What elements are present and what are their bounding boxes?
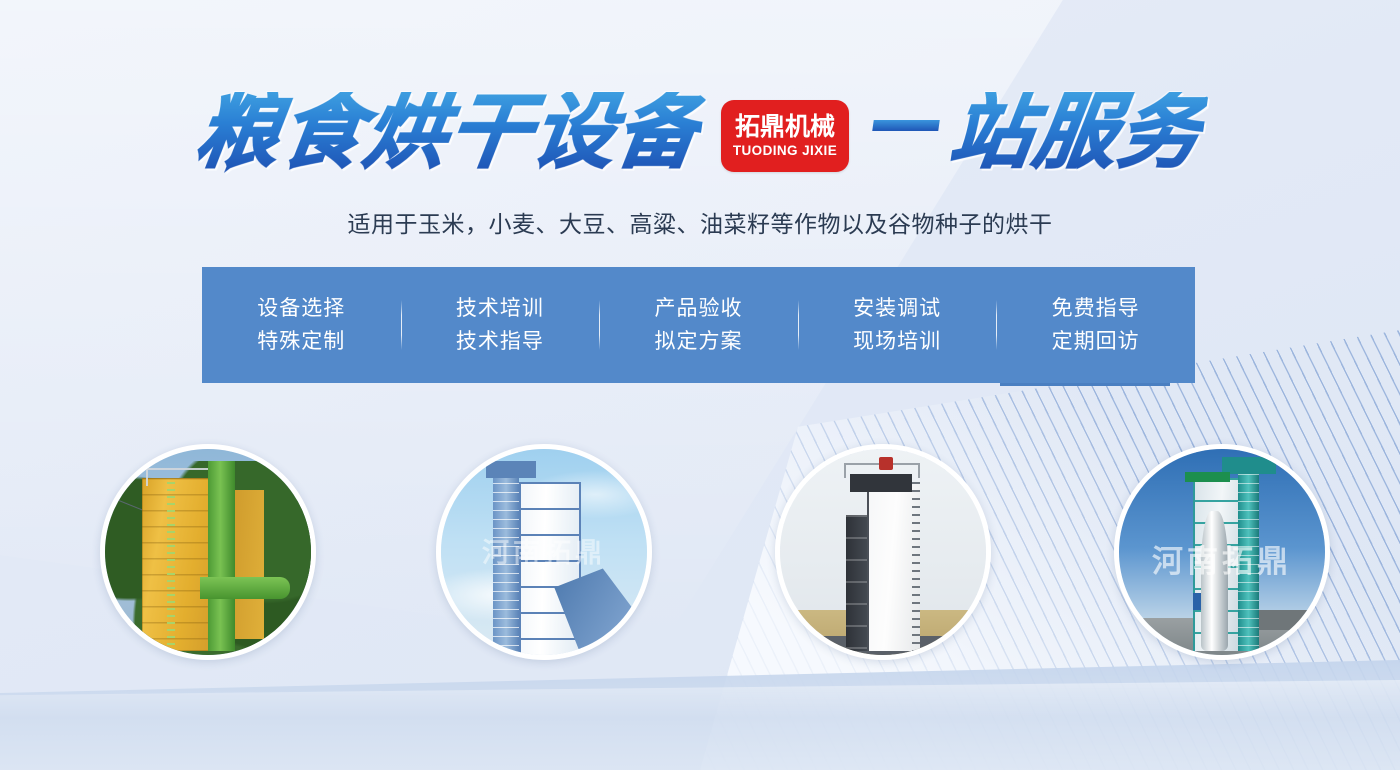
feature-item-5-line1: 免费指导 [996, 292, 1195, 325]
photo-4-image: 河南拓鼎 [1119, 449, 1325, 655]
feature-item-2-line2: 技术指导 [401, 325, 600, 358]
photo-thumbnail-4[interactable]: 河南拓鼎 [1114, 444, 1330, 660]
photo-2-watermark: 河南拓鼎 [457, 531, 630, 570]
photo-gallery: 河南拓鼎 [0, 436, 1400, 686]
feature-item-1-line1: 设备选择 [202, 292, 401, 325]
feature-item-3-line2: 拟定方案 [599, 325, 798, 358]
brand-logo-chinese: 拓鼎机械 [735, 114, 835, 140]
feature-item-4-line1: 安装调试 [798, 292, 997, 325]
headline-dash-icon [872, 120, 940, 131]
photo-thumbnail-1[interactable] [100, 444, 316, 660]
photo-thumbnail-3[interactable] [775, 444, 991, 660]
photo-3-red-unit [879, 457, 893, 469]
headline-row: 粮食烘干设备 拓鼎机械 TUODING JIXIE 站服务 [0, 78, 1400, 188]
feature-item-5-line2: 定期回访 [996, 325, 1195, 358]
headline-left-text: 粮食烘干设备 [191, 92, 707, 174]
photo-1-ladder [167, 482, 175, 647]
photo-4-watermark: 河南拓鼎 [1119, 536, 1325, 581]
feature-item-2[interactable]: 技术培训 技术指导 [401, 292, 600, 357]
photo-2-image: 河南拓鼎 [441, 449, 647, 655]
photo-4-white-duct [1201, 511, 1228, 651]
feature-bar: 设备选择 特殊定制 技术培训 技术指导 产品验收 拟定方案 安装调试 现场培训 … [202, 267, 1195, 383]
photo-1-green-conveyor [200, 577, 291, 600]
photo-thumbnail-2[interactable]: 河南拓鼎 [436, 444, 652, 660]
feature-item-1[interactable]: 设备选择 特殊定制 [202, 292, 401, 357]
photo-2-elevator-head [486, 461, 535, 477]
banner-subtitle: 适用于玉米，小麦、大豆、高粱、油菜籽等作物以及谷物种子的烘干 [0, 205, 1400, 239]
brand-logo-pinyin: TUODING JIXIE [733, 143, 837, 158]
photo-3-ladder [912, 482, 920, 651]
feature-item-3-line1: 产品验收 [599, 292, 798, 325]
photo-1-image [105, 449, 311, 655]
headline-right-text: 站服务 [945, 92, 1209, 174]
banner-content: 粮食烘干设备 拓鼎机械 TUODING JIXIE 站服务 适用于玉米，小麦、大… [0, 0, 1400, 770]
photo-1-green-elevator [208, 461, 235, 651]
feature-item-4[interactable]: 安装调试 现场培训 [798, 292, 997, 357]
feature-item-5[interactable]: 免费指导 定期回访 [996, 292, 1195, 357]
feature-item-2-line1: 技术培训 [401, 292, 600, 325]
photo-4-green-sign [1185, 472, 1230, 482]
feature-item-3[interactable]: 产品验收 拟定方案 [599, 292, 798, 357]
feature-item-1-line2: 特殊定制 [202, 325, 401, 358]
feature-item-4-line2: 现场培训 [798, 325, 997, 358]
brand-logo-badge: 拓鼎机械 TUODING JIXIE [721, 100, 849, 172]
photo-3-image [780, 449, 986, 655]
